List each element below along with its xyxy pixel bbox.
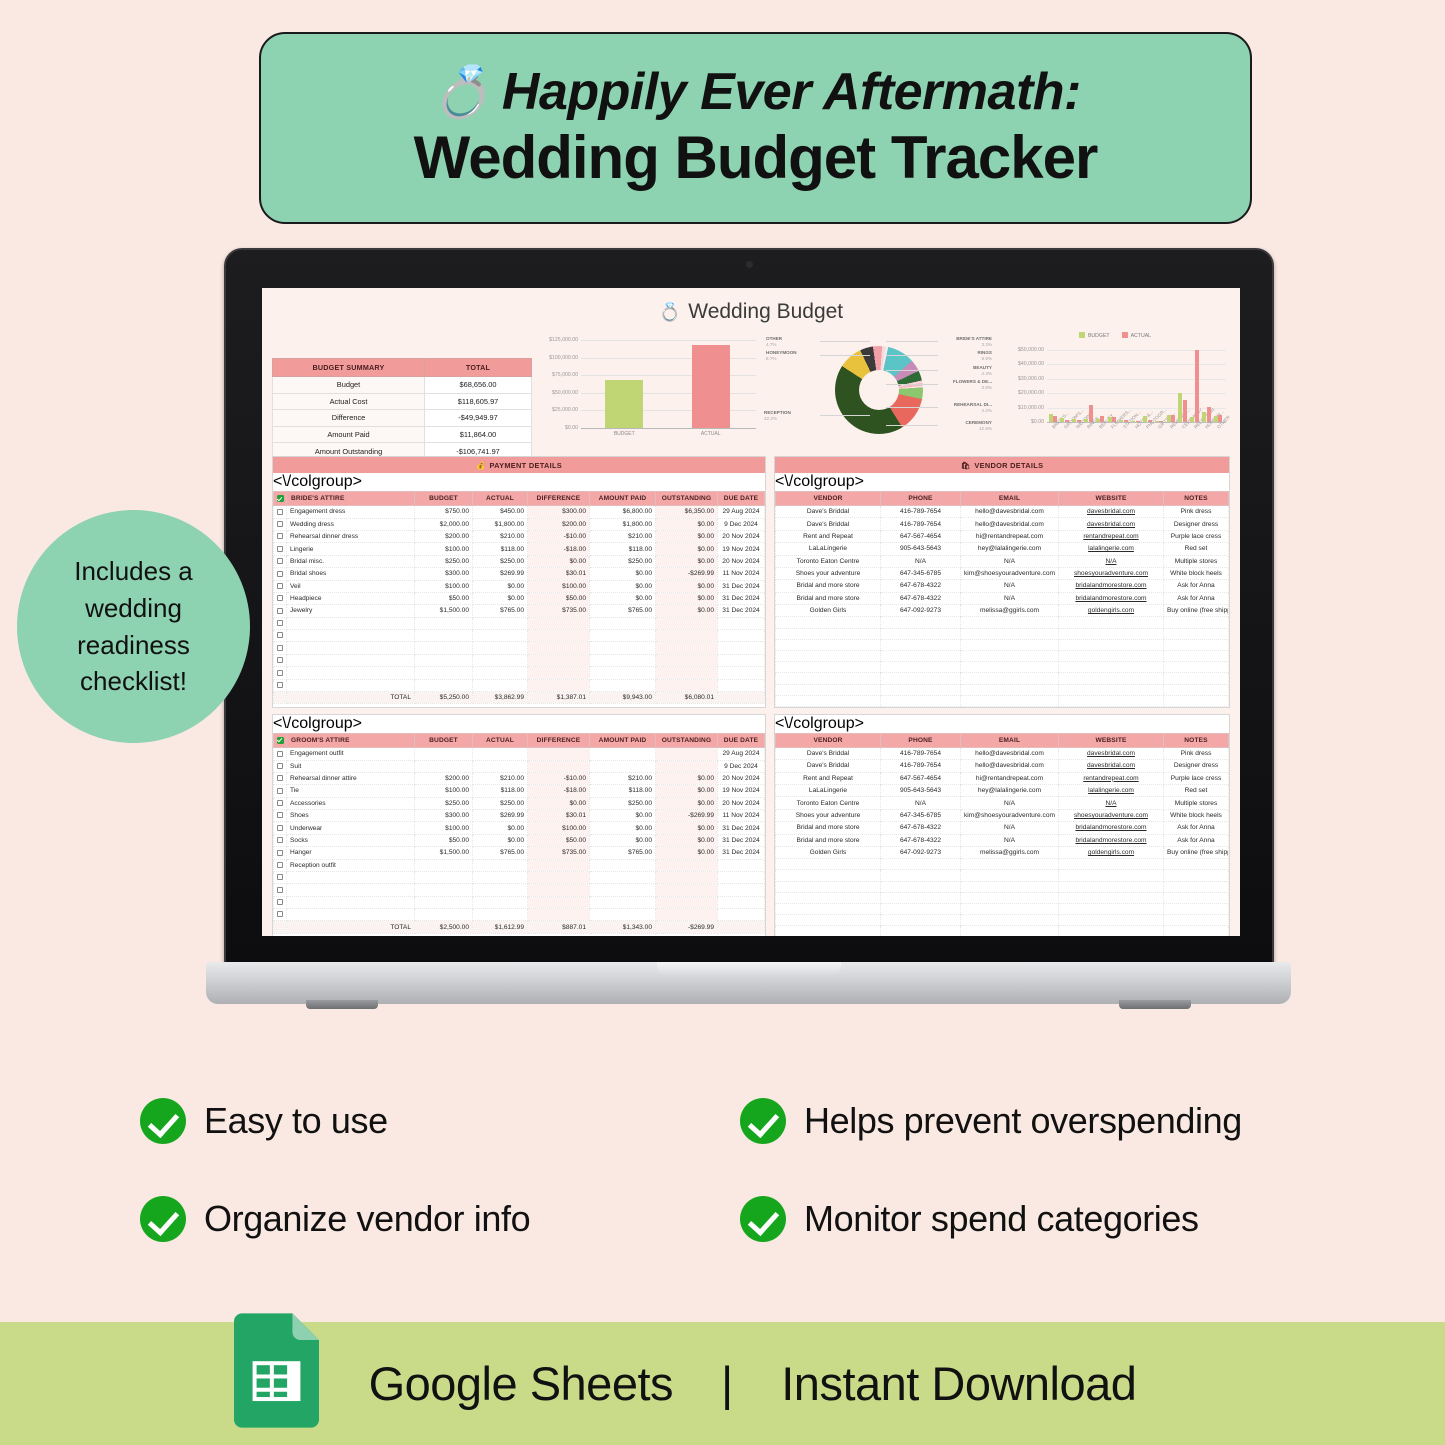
y-axis-tick: $30,000.00 [1000, 376, 1044, 382]
item-due-date [718, 859, 765, 871]
vendor-website[interactable]: rentandrepeat.com [1059, 772, 1164, 784]
section-name-brides: BRIDE'S ATTIRE [287, 492, 415, 506]
table-row[interactable] [274, 642, 765, 654]
table-row[interactable] [274, 909, 765, 921]
table-row-empty[interactable] [776, 695, 1229, 706]
item-outstanding [656, 679, 718, 691]
item-difference: -$10.00 [528, 772, 590, 784]
vendor-website[interactable]: N/A [1059, 555, 1164, 567]
item-budget: $50.00 [415, 592, 473, 604]
checkbox-icon[interactable] [277, 558, 283, 564]
checkbox-icon[interactable] [277, 751, 283, 757]
vendor-table-1[interactable]: VENDOR PHONE EMAIL WEBSITE NOTES Dave's … [775, 491, 1229, 707]
table-row[interactable] [274, 884, 765, 896]
checkbox-icon[interactable] [277, 911, 283, 917]
table-row-empty[interactable] [776, 870, 1229, 881]
total-amount-paid: $9,943.00 [590, 691, 656, 703]
checkbox-icon[interactable] [277, 775, 283, 781]
item-budget [415, 859, 473, 871]
vendor-email: melissa@ggirls.com [961, 846, 1059, 858]
select-all-checkbox-cell-grooms[interactable] [274, 733, 287, 747]
table-row-empty[interactable] [776, 904, 1229, 915]
vendor-phone: 647-345-6785 [881, 567, 961, 579]
bar-budget [1108, 417, 1112, 422]
item-due-date: 31 Dec 2024 [718, 834, 765, 846]
row-checkbox-cell[interactable] [274, 785, 287, 797]
vendor-notes [1164, 673, 1229, 684]
vendor-website-link[interactable]: N/A [1106, 558, 1117, 565]
row-checkbox-cell[interactable] [274, 506, 287, 518]
grooms-attire-panel: <\/colgroup> GROOM'S ATTIRE BUDGET ACTUA… [272, 714, 766, 936]
row-checkbox-cell[interactable] [274, 896, 287, 908]
vendor-name: Golden Girls [776, 605, 881, 617]
checkbox-icon[interactable] [277, 887, 283, 893]
row-checkbox-cell[interactable] [274, 760, 287, 772]
vendor-website-link[interactable]: bridalandmorestore.com [1075, 837, 1146, 844]
checkbox-icon[interactable] [277, 533, 283, 539]
item-amount-paid [590, 667, 656, 679]
checkbox-checked-icon[interactable] [277, 495, 284, 502]
item-outstanding: $0.00 [656, 785, 718, 797]
vendor-phone [881, 662, 961, 673]
table-row[interactable] [274, 896, 765, 908]
row-checkbox-cell[interactable] [274, 797, 287, 809]
item-name [287, 871, 415, 883]
checkbox-icon[interactable] [277, 645, 283, 651]
vendor-website[interactable]: goldengirls.com [1059, 846, 1164, 858]
brides-attire-table[interactable]: BRIDE'S ATTIRE BUDGET ACTUAL DIFFERENCE … [273, 491, 765, 704]
checkbox-icon[interactable] [277, 595, 283, 601]
budget-summary-table: BUDGET SUMMARY TOTAL Budget$68,656.00Act… [272, 358, 532, 460]
table-row[interactable]: Veil$100.00$0.00$100.00$0.00$0.0031 Dec … [274, 580, 765, 592]
table-row-empty[interactable] [776, 628, 1229, 639]
item-difference [528, 679, 590, 691]
vendor-website-link[interactable]: goldengirls.com [1088, 607, 1134, 614]
item-name [287, 896, 415, 908]
item-outstanding: $0.00 [656, 822, 718, 834]
table-row[interactable]: Engagement dress$750.00$450.00$300.00$6,… [274, 506, 765, 518]
item-difference [528, 748, 590, 760]
vendor-website[interactable]: shoesyouradventure.com [1059, 809, 1164, 821]
select-all-checkbox-cell[interactable] [274, 492, 287, 506]
row-checkbox-cell[interactable] [274, 871, 287, 883]
check-circle-icon [740, 1196, 786, 1242]
vendor-website[interactable]: rentandrepeat.com [1059, 530, 1164, 542]
summary-label: Budget [273, 377, 425, 394]
y-axis-tick: $40,000.00 [1000, 361, 1044, 367]
vendor-name [776, 684, 881, 695]
item-amount-paid: $250.00 [590, 555, 656, 567]
vendor-email [961, 617, 1059, 628]
checkbox-icon[interactable] [277, 837, 283, 843]
table-row-empty[interactable] [776, 915, 1229, 926]
vendor-website-link[interactable]: bridalandmorestore.com [1075, 595, 1146, 602]
feature-item-4: Monitor spend categories [740, 1196, 1370, 1242]
row-checkbox-cell[interactable] [274, 909, 287, 921]
vendor-name: Shoes your adventure [776, 809, 881, 821]
checkbox-icon[interactable] [277, 509, 283, 515]
item-actual [473, 679, 528, 691]
row-checkbox-cell[interactable] [274, 605, 287, 617]
vendor-website-link[interactable]: bridalandmorestore.com [1075, 824, 1146, 831]
table-row[interactable]: LaLaLingerie905-643-5643hey@lalalingerie… [776, 785, 1229, 797]
vendor-website-link[interactable]: goldengirls.com [1088, 849, 1134, 856]
table-row[interactable]: Shoes your adventure647-345-6785kim@shoe… [776, 809, 1229, 821]
vendor-notes: Purple lace cress [1164, 530, 1229, 542]
table-row-empty[interactable] [776, 639, 1229, 650]
total-label: TOTAL [287, 921, 415, 933]
vendor-website [1059, 684, 1164, 695]
table-row[interactable]: LaLaLingerie905-643-5643hey@lalalingerie… [776, 543, 1229, 555]
table-row[interactable]: Bridal and more store647-678-4322N/Abrid… [776, 580, 1229, 592]
table-row[interactable] [274, 871, 765, 883]
vendor-website-link[interactable]: bridalandmorestore.com [1075, 582, 1146, 589]
col-due-date: DUE DATE [718, 492, 765, 506]
donut-leader-line [886, 341, 938, 342]
vendor-website-link[interactable]: lalalingerie.com [1088, 545, 1134, 552]
row-checkbox-cell[interactable] [274, 555, 287, 567]
footer-bar: Google Sheets | Instant Download [0, 1322, 1445, 1445]
item-outstanding: $0.00 [656, 543, 718, 555]
item-difference [528, 654, 590, 666]
table-row[interactable]: Bridal and more store647-678-4322N/Abrid… [776, 834, 1229, 846]
row-checkbox-cell[interactable] [274, 630, 287, 642]
table-row[interactable] [274, 667, 765, 679]
total-outstanding: $6,080.01 [656, 691, 718, 703]
vendor-email [961, 859, 1059, 870]
item-outstanding [656, 859, 718, 871]
item-name [287, 642, 415, 654]
item-due-date: 31 Dec 2024 [718, 605, 765, 617]
table-row[interactable]: Bridal and more store647-678-4322N/Abrid… [776, 592, 1229, 604]
item-due-date: 9 Dec 2024 [718, 760, 765, 772]
vendor-website-link[interactable]: shoesyouradventure.com [1074, 570, 1148, 577]
vendor-details-panel-2: <\/colgroup> VENDOR PHONE EMAIL WEBSITE … [774, 714, 1230, 936]
table-row[interactable] [274, 630, 765, 642]
bar-budget [1131, 421, 1135, 422]
vendor-name [776, 628, 881, 639]
table-row[interactable]: Socks$50.00$0.00$50.00$0.00$0.0031 Dec 2… [274, 834, 765, 846]
vendor-website [1059, 673, 1164, 684]
item-name: Shoes [287, 810, 415, 822]
row-checkbox-cell[interactable] [274, 568, 287, 580]
vendor-email: hello@davesbridal.com [961, 760, 1059, 772]
gridline [1047, 350, 1226, 351]
item-name [287, 884, 415, 896]
vendor-website-link[interactable]: davesbridal.com [1087, 521, 1135, 528]
table-row[interactable]: Golden Girls647-092-9273melissa@ggirls.c… [776, 846, 1229, 858]
table-row[interactable]: Toronto Eaton CentreN/AN/AN/AMultiple st… [776, 555, 1229, 567]
summary-value: $11,864.00 [425, 426, 532, 443]
row-checkbox-cell[interactable] [274, 810, 287, 822]
table-row[interactable]: Accessories$250.00$250.00$0.00$250.00$0.… [274, 797, 765, 809]
vendor-name [776, 859, 881, 870]
table-row[interactable]: Rehearsal dinner attire$200.00$210.00-$1… [274, 772, 765, 784]
table-row[interactable]: Headpiece$50.00$0.00$50.00$0.00$0.0031 D… [274, 592, 765, 604]
row-checkbox-cell[interactable] [274, 834, 287, 846]
row-checkbox-cell[interactable] [274, 859, 287, 871]
vendor-website-link[interactable]: davesbridal.com [1087, 762, 1135, 769]
donut-callout-label: REHEARSAL DI...4.2% [954, 402, 992, 413]
vendor-website-link[interactable]: davesbridal.com [1087, 508, 1135, 515]
row-checkbox-cell[interactable] [274, 679, 287, 691]
vendor-notes [1164, 650, 1229, 661]
legend-item-budget: BUDGET [1079, 332, 1110, 339]
col-email: EMAIL [961, 492, 1059, 506]
vendor-website[interactable]: davesbridal.com [1059, 747, 1164, 759]
table-row[interactable]: Shoes your adventure647-345-6785kim@shoe… [776, 567, 1229, 579]
item-name [287, 617, 415, 629]
vendor-website-link[interactable]: lalalingerie.com [1088, 787, 1134, 794]
item-amount-paid: $765.00 [590, 847, 656, 859]
vendor-website[interactable]: lalalingerie.com [1059, 785, 1164, 797]
vendor-website[interactable]: lalalingerie.com [1059, 543, 1164, 555]
row-checkbox-cell[interactable] [274, 617, 287, 629]
vendor-details-title-text: VENDOR DETAILS [974, 461, 1043, 470]
checkbox-icon[interactable] [277, 763, 283, 769]
row-checkbox-cell[interactable] [274, 822, 287, 834]
table-row[interactable]: Bridal and more store647-678-4322N/Abrid… [776, 822, 1229, 834]
vendor-website[interactable]: N/A [1059, 797, 1164, 809]
vendor-website[interactable]: davesbridal.com [1059, 518, 1164, 530]
vendor-phone: 647-092-9273 [881, 846, 961, 858]
vendor-website[interactable]: bridalandmorestore.com [1059, 592, 1164, 604]
vendor-details-panel-1: 🛍 VENDOR DETAILS <\/colgroup> VENDOR PHO… [774, 456, 1230, 708]
checkbox-icon[interactable] [277, 670, 283, 676]
checkbox-icon[interactable] [277, 812, 283, 818]
google-sheets-icon [234, 1313, 319, 1428]
table-row[interactable]: Jewelry$1,500.00$765.00$735.00$765.00$0.… [274, 605, 765, 617]
table-row-empty[interactable] [776, 926, 1229, 936]
table-row-empty[interactable] [776, 617, 1229, 628]
vendor-website[interactable]: bridalandmorestore.com [1059, 834, 1164, 846]
table-row-empty[interactable] [776, 684, 1229, 695]
table-row[interactable]: Rehearsal dinner dress$200.00$210.00-$10… [274, 531, 765, 543]
vendor-name: Rent and Repeat [776, 772, 881, 784]
grooms-attire-table[interactable]: GROOM'S ATTIRE BUDGET ACTUAL DIFFERENCE … [273, 733, 765, 934]
table-header-row: VENDOR PHONE EMAIL WEBSITE NOTES [776, 492, 1229, 506]
checkbox-icon[interactable] [277, 657, 283, 663]
table-row[interactable] [274, 654, 765, 666]
checkbox-icon[interactable] [277, 825, 283, 831]
vendor-website-link[interactable]: davesbridal.com [1087, 750, 1135, 757]
row-checkbox-cell[interactable] [274, 654, 287, 666]
vendor-website-link[interactable]: N/A [1106, 800, 1117, 807]
spreadsheet-app: 💍 Wedding Budget BUDGET SUMMARY TOTAL Bu… [262, 288, 1240, 936]
row-checkbox-cell[interactable] [274, 580, 287, 592]
row-checkbox-cell[interactable] [274, 543, 287, 555]
vendor-website [1059, 628, 1164, 639]
summary-value: $118,605.97 [425, 393, 532, 410]
checkbox-icon[interactable] [277, 620, 283, 626]
table-row[interactable]: Tie$100.00$118.00-$18.00$118.00$0.0019 N… [274, 785, 765, 797]
item-difference: -$18.00 [528, 543, 590, 555]
checkbox-icon[interactable] [277, 850, 283, 856]
table-row-empty[interactable] [776, 881, 1229, 892]
vendor-name: Dave's Briddal [776, 518, 881, 530]
item-name: Lingerie [287, 543, 415, 555]
checkbox-icon[interactable] [277, 788, 283, 794]
vendor-website-link[interactable]: rentandrepeat.com [1083, 533, 1138, 540]
table-row[interactable]: Golden Girls647-092-9273melissa@ggirls.c… [776, 605, 1229, 617]
checkbox-icon[interactable] [277, 800, 283, 806]
y-axis-tick: $50,000.00 [1000, 347, 1044, 353]
checkbox-icon[interactable] [277, 546, 283, 552]
laptop-foot-left [306, 1000, 378, 1009]
vendor-website[interactable]: bridalandmorestore.com [1059, 822, 1164, 834]
checkbox-icon[interactable] [277, 682, 283, 688]
table-row[interactable]: Dave's Briddal416-789-7654hello@davesbri… [776, 747, 1229, 759]
table-row[interactable]: Toronto Eaton CentreN/AN/AN/AMultiple st… [776, 797, 1229, 809]
table-row[interactable]: Lingerie$100.00$118.00-$18.00$118.00$0.0… [274, 543, 765, 555]
donut-callout-label: HONEYMOON8.7% [766, 350, 797, 361]
item-name: Rehearsal dinner attire [287, 772, 415, 784]
vendor-website-link[interactable]: rentandrepeat.com [1083, 775, 1138, 782]
table-row[interactable]: Rent and Repeat647-567-4654hi@rentandrep… [776, 530, 1229, 542]
vendor-phone [881, 915, 961, 926]
item-budget [415, 630, 473, 642]
row-checkbox-cell[interactable] [274, 518, 287, 530]
table-row[interactable]: Reception outfit [274, 859, 765, 871]
item-name: Tie [287, 785, 415, 797]
vendor-name: Shoes your adventure [776, 567, 881, 579]
item-name: Socks [287, 834, 415, 846]
donut-callout-label: FLOWERS & DE...3.6% [953, 379, 992, 390]
vendor-name: Dave's Briddal [776, 760, 881, 772]
checkbox-checked-icon[interactable] [277, 737, 284, 744]
table-row-empty[interactable] [776, 673, 1229, 684]
item-budget [415, 748, 473, 760]
col-outstanding: OUTSTANDING [656, 733, 718, 747]
budget-vs-actual-plot: $0.00$25,000.00$50,000.00$75,000.00$100,… [538, 332, 758, 444]
checkbox-icon[interactable] [277, 899, 283, 905]
table-row[interactable]: Underwear$100.00$0.00$100.00$0.00$0.0031… [274, 822, 765, 834]
vendor-website[interactable]: bridalandmorestore.com [1059, 580, 1164, 592]
item-name [287, 630, 415, 642]
checkbox-icon[interactable] [277, 608, 283, 614]
table-row[interactable]: Rent and Repeat647-567-4654hi@rentandrep… [776, 772, 1229, 784]
gridline [1047, 393, 1226, 394]
table-row[interactable]: Shoes$300.00$269.99$30.01$0.00-$269.9911… [274, 810, 765, 822]
vendor-phone: 647-345-6785 [881, 809, 961, 821]
bar-budget [1049, 414, 1053, 422]
item-due-date: 31 Dec 2024 [718, 847, 765, 859]
shop-icon: 🛍 [961, 461, 971, 470]
table-row[interactable] [274, 617, 765, 629]
bar-budget [1096, 419, 1100, 422]
item-due-date: 31 Dec 2024 [718, 592, 765, 604]
donut-leader-line [886, 407, 938, 408]
checkbox-icon[interactable] [277, 632, 283, 638]
row-checkbox-cell[interactable] [274, 531, 287, 543]
vendor-notes: Ask for Anna [1164, 822, 1229, 834]
item-amount-paid: $210.00 [590, 772, 656, 784]
item-budget: $50.00 [415, 834, 473, 846]
table-header-row: BUDGET SUMMARY TOTAL [273, 359, 532, 377]
item-due-date: 11 Nov 2024 [718, 568, 765, 580]
row-checkbox-cell[interactable] [274, 642, 287, 654]
item-due-date [718, 679, 765, 691]
vendor-name: Toronto Eaton Centre [776, 555, 881, 567]
ring-icon-small: 💍 [659, 302, 681, 323]
item-actual [473, 667, 528, 679]
y-axis-tick: $0.00 [1000, 419, 1044, 425]
donut-leader-line [820, 355, 870, 356]
vendor-notes: Designer dress [1164, 760, 1229, 772]
item-actual: $210.00 [473, 772, 528, 784]
vendor-notes: Ask for Anna [1164, 592, 1229, 604]
table-row[interactable]: Engagement outfit29 Aug 2024 [274, 748, 765, 760]
row-checkbox-cell[interactable] [274, 847, 287, 859]
y-axis-tick: $75,000.00 [538, 372, 578, 378]
vendor-name: Bridal and more store [776, 834, 881, 846]
vendor-table-2[interactable]: VENDOR PHONE EMAIL WEBSITE NOTES Dave's … [775, 733, 1229, 936]
table-row[interactable]: Dave's Briddal416-789-7654hello@davesbri… [776, 760, 1229, 772]
dashboard-widgets: BUDGET SUMMARY TOTAL Budget$68,656.00Act… [270, 332, 1232, 450]
bar-budget [1119, 420, 1123, 422]
item-actual: $0.00 [473, 834, 528, 846]
item-actual [473, 859, 528, 871]
table-row[interactable]: Bridal shoes$300.00$269.99$30.01$0.00-$2… [274, 568, 765, 580]
item-amount-paid [590, 909, 656, 921]
row-checkbox-cell[interactable] [274, 884, 287, 896]
table-row[interactable] [274, 679, 765, 691]
vendor-website-link[interactable]: shoesyouradventure.com [1074, 812, 1148, 819]
item-difference: $30.01 [528, 568, 590, 580]
row-checkbox-cell[interactable] [274, 592, 287, 604]
table-row-empty[interactable] [776, 662, 1229, 673]
table-row[interactable]: Wedding dress$2,000.00$1,800.00$200.00$1… [274, 518, 765, 530]
table-row[interactable]: Bridal misc.$250.00$250.00$0.00$250.00$0… [274, 555, 765, 567]
vendor-name: Golden Girls [776, 846, 881, 858]
item-due-date: 11 Nov 2024 [718, 810, 765, 822]
item-actual: $1,800.00 [473, 518, 528, 530]
row-checkbox-cell[interactable] [274, 772, 287, 784]
checkbox-icon[interactable] [277, 874, 283, 880]
payment-details-title: 💰 PAYMENT DETAILS [273, 457, 765, 473]
row-checkbox-cell[interactable] [274, 748, 287, 760]
vendor-notes [1164, 695, 1229, 706]
table-row-empty[interactable] [776, 892, 1229, 903]
checkbox-icon[interactable] [277, 583, 283, 589]
checkbox-icon[interactable] [277, 571, 283, 577]
vendor-name: Toronto Eaton Centre [776, 797, 881, 809]
table-row[interactable]: Suit9 Dec 2024 [274, 760, 765, 772]
total-spacer [274, 691, 287, 703]
vendor-website[interactable]: davesbridal.com [1059, 760, 1164, 772]
vendor-website[interactable]: davesbridal.com [1059, 506, 1164, 518]
table-row-empty[interactable] [776, 650, 1229, 661]
vendor-email [961, 870, 1059, 881]
vendor-website[interactable]: goldengirls.com [1059, 605, 1164, 617]
table-row-empty[interactable] [776, 859, 1229, 870]
vendor-table-1-body: Dave's Briddal416-789-7654hello@davesbri… [776, 506, 1229, 707]
vendor-email [961, 662, 1059, 673]
checkbox-icon[interactable] [277, 862, 283, 868]
item-amount-paid: $0.00 [590, 580, 656, 592]
table-row[interactable]: Dave's Briddal416-789-7654hello@davesbri… [776, 518, 1229, 530]
table-row[interactable]: Hanger$1,500.00$765.00$735.00$765.00$0.0… [274, 847, 765, 859]
vendor-email: hello@davesbridal.com [961, 506, 1059, 518]
item-budget [415, 617, 473, 629]
item-budget: $100.00 [415, 543, 473, 555]
vendor-phone: N/A [881, 797, 961, 809]
table-row[interactable]: Dave's Briddal416-789-7654hello@davesbri… [776, 506, 1229, 518]
row-checkbox-cell[interactable] [274, 667, 287, 679]
checkbox-icon[interactable] [277, 521, 283, 527]
item-name: Hanger [287, 847, 415, 859]
vendor-website[interactable]: shoesyouradventure.com [1059, 567, 1164, 579]
